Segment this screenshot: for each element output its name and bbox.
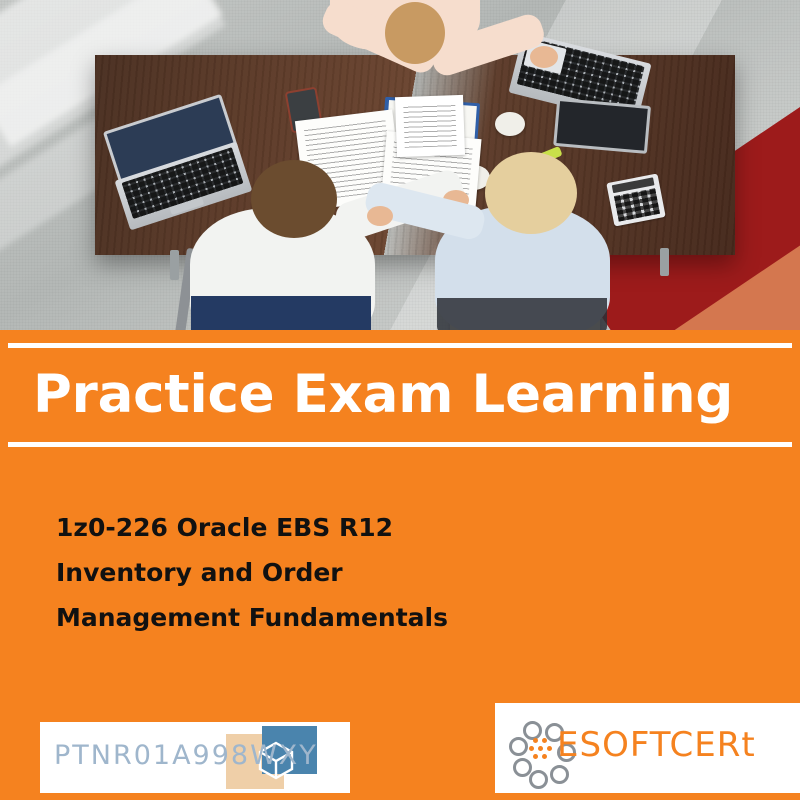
divider-bottom — [8, 442, 792, 447]
person-head — [385, 2, 445, 64]
flyer-page: Practice Exam Learning 1z0-226 Oracle EB… — [0, 0, 800, 800]
chair-back-dark — [437, 298, 607, 330]
exam-title-line2: Inventory and Order — [56, 550, 576, 595]
watermark-text: PTNR01A998WXY — [54, 740, 318, 771]
exam-title-line1: 1z0-226 Oracle EBS R12 — [56, 505, 576, 550]
person-hand — [367, 206, 393, 226]
header-photo — [0, 0, 800, 330]
divider-top — [8, 343, 792, 348]
chair-seat-navy — [191, 296, 371, 330]
laptop-screen — [553, 98, 651, 154]
page-title: Practice Exam Learning — [33, 362, 773, 428]
person-hand — [530, 46, 558, 68]
table-leg — [660, 248, 669, 276]
partner-watermark-logo: PTNR01A998WXY — [40, 722, 350, 793]
exam-title: 1z0-226 Oracle EBS R12 Inventory and Ord… — [56, 505, 576, 640]
document-page — [395, 95, 465, 157]
coffee-cup — [495, 112, 525, 136]
exam-title-line3: Management Fundamentals — [56, 595, 576, 640]
table-leg — [170, 250, 179, 280]
person-head — [485, 152, 577, 234]
person-head — [251, 160, 337, 238]
esoftcert-logo: ESOFTCERt — [495, 703, 800, 793]
brand-name: ESOFTCERt — [557, 725, 756, 765]
